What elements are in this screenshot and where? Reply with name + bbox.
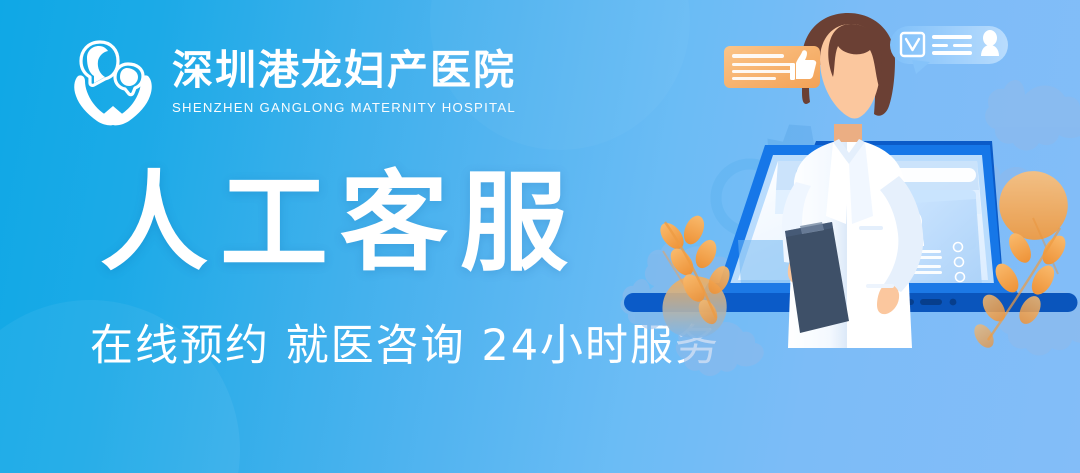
hospital-logo[interactable]: 深圳港龙妇产医院 SHENZHEN GANGLONG MATERNITY HOS… [70,36,516,128]
orange-feedback-bubble [724,46,820,88]
logo-chinese-name: 深圳港龙妇产医院 [172,49,516,92]
online-doctor-consultation-illustration [620,0,1080,473]
page-title: 人工客服 [100,170,580,278]
blue-message-bubble [890,26,1008,74]
laptop-port [920,299,942,305]
logo-english-name: SHENZHEN GANGLONG MATERNITY HOSPITAL [172,100,516,115]
promo-banner: 深圳港龙妇产医院 SHENZHEN GANGLONG MATERNITY HOS… [0,0,1080,473]
hands-cradling-mother-and-baby-logo-icon [70,36,156,128]
laptop-indicator [950,299,957,306]
